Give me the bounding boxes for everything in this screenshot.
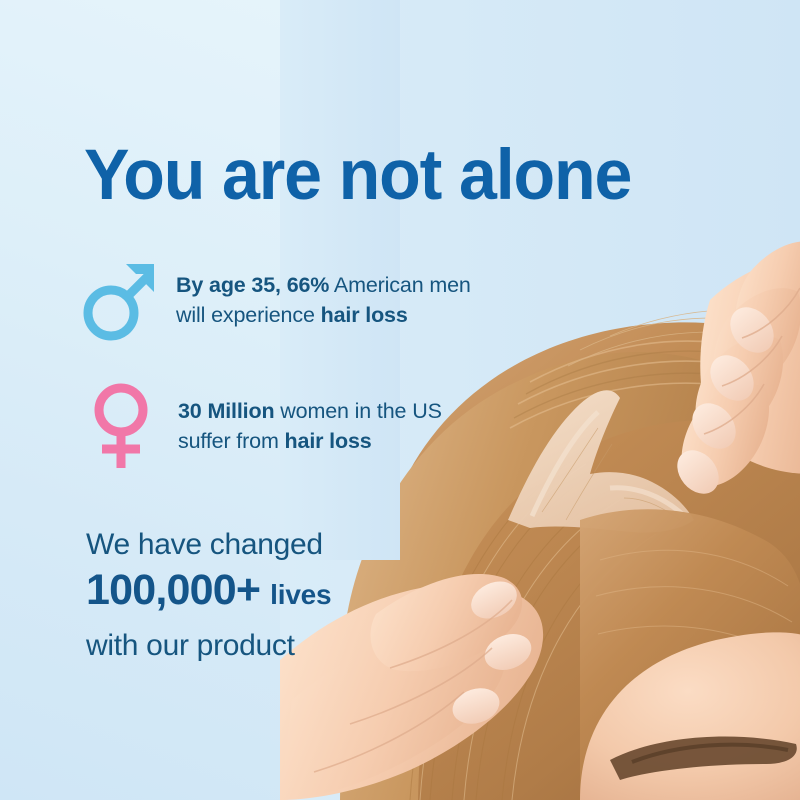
closing-line-we-have-changed: We have changed (86, 525, 331, 565)
stat-men-line1-rest: American men (329, 273, 470, 297)
stat-women-line2-bold: hair loss (285, 429, 372, 453)
stat-women-line1-rest: women in the US (274, 399, 441, 423)
closing-statement: We have changed 100,000+lives with our p… (86, 525, 331, 667)
stat-men-line1-bold: By age 35, 66% (176, 273, 329, 297)
male-gender-symbol-icon (82, 258, 160, 344)
page-title: You are not alone (84, 140, 631, 211)
lives-label: lives (270, 579, 331, 610)
stat-row-women: 30 Million women in the US suffer from h… (88, 382, 442, 472)
stat-women-line2-rest: suffer from (178, 429, 285, 453)
stat-men-line2-rest: will experience (176, 303, 321, 327)
stat-row-men: By age 35, 66% American men will experie… (82, 258, 471, 344)
stat-text-men: By age 35, 66% American men will experie… (176, 258, 471, 330)
lives-count: 100,000+ (86, 566, 260, 614)
stat-women-line1-bold: 30 Million (178, 399, 274, 423)
closing-line-with-our-product: with our product (86, 625, 331, 667)
closing-line-lives: 100,000+lives (86, 565, 331, 625)
stat-men-line2-bold: hair loss (321, 303, 408, 327)
stat-text-women: 30 Million women in the US suffer from h… (178, 382, 442, 456)
female-gender-symbol-icon (88, 382, 160, 472)
promo-poster: You are not alone By age 35, 66% America… (0, 0, 800, 800)
